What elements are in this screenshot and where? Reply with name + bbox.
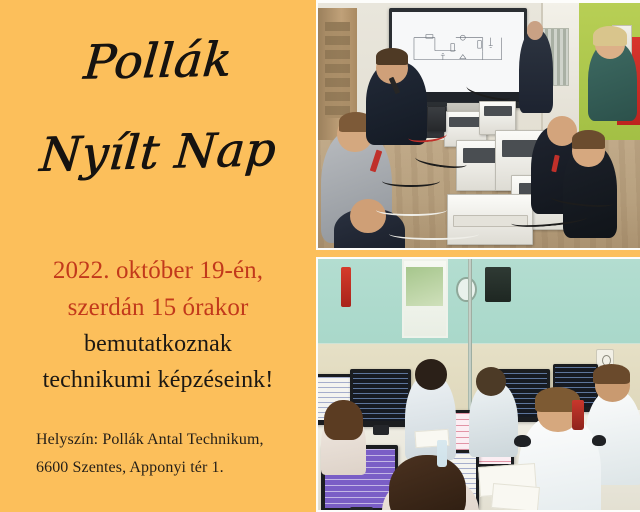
student-head [324,400,363,440]
electronics-lab-photo [316,0,640,250]
student-hair [593,26,627,46]
page-title: Pollák Nyílt Nap [0,38,316,176]
soda-bottle [572,400,584,430]
monitor-stand [373,425,389,435]
student-head [415,359,447,389]
student-head [476,367,507,396]
computer-lab-photo [316,257,640,512]
venue-address: Helyszín: Pollák Antal Technikum, 6600 S… [36,426,296,483]
computer-mouse [592,435,606,446]
title-line-2: Nyílt Nap [0,125,318,180]
event-date-line-2: szerdán 15 órakor [10,289,306,326]
student-hair [376,48,408,65]
text-panel: Pollák Nyílt Nap 2022. október 19-én, sz… [0,0,316,512]
lab-cable [382,175,440,187]
electronics-lab-scene [318,3,640,248]
event-info-line-1: bemutatkoznak [10,326,306,362]
title-line-1: Pollák [0,35,318,89]
teacher-head [527,21,544,39]
poster: Pollák Nyílt Nap 2022. október 19-én, sz… [0,0,640,512]
circuit-diagram-icon [408,20,508,82]
classroom-wall-upper [318,259,640,344]
student-hair [593,364,630,384]
event-date-line-1: 2022. október 19-én, [10,252,306,289]
water-bottle [437,440,447,468]
computer-mouse [514,435,530,448]
photo-column [316,0,640,512]
projector-icon [485,267,511,302]
fire-extinguisher-icon [341,267,352,307]
lab-cable [376,204,447,216]
event-details: 2022. október 19-én, szerdán 15 órakor b… [10,252,306,398]
venue-line-2: 6600 Szentes, Apponyi tér 1. [36,454,296,482]
venue-line-1: Helyszín: Pollák Antal Technikum, [36,426,296,454]
teacher-figure [519,30,553,113]
monitor-stand [350,507,373,510]
student-head [350,199,385,233]
paper-sheet [491,483,540,510]
wall-clock-icon [456,277,476,302]
event-info-line-2: technikumi képzéseink! [10,362,306,398]
cable-pole [468,259,472,415]
lab-instrument [427,106,445,133]
computer-lab-scene [318,259,640,510]
classroom-window [402,259,448,338]
student-hair [572,130,604,148]
